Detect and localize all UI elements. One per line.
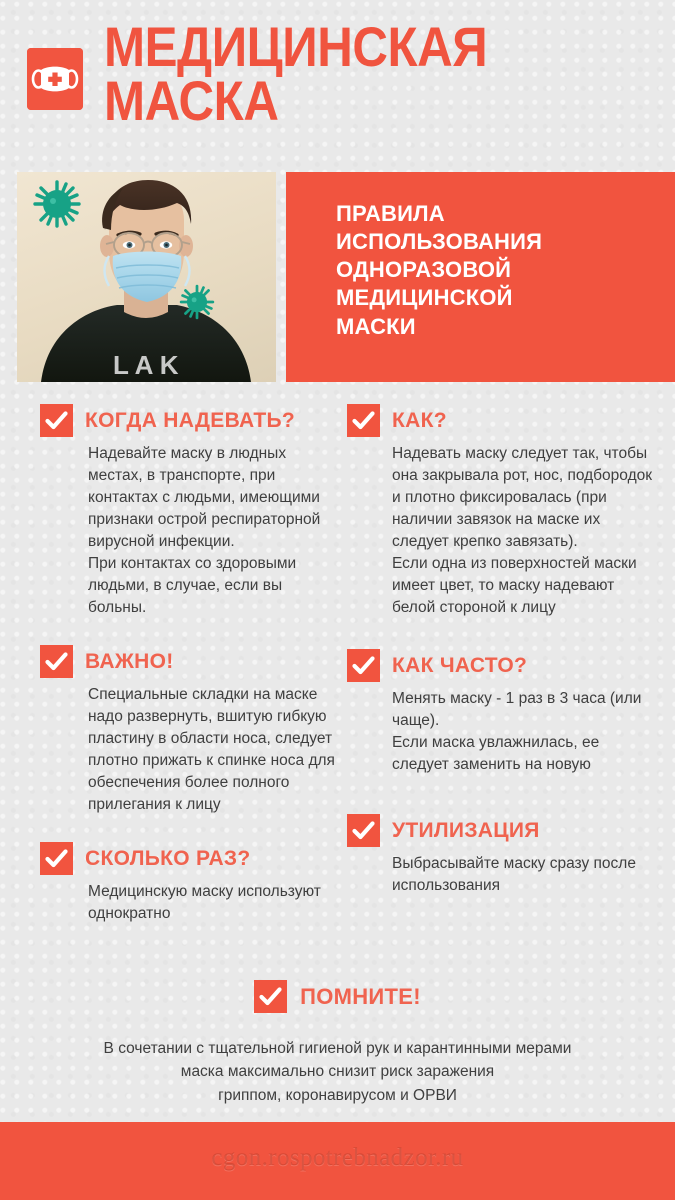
- checkmark-icon: [254, 980, 287, 1013]
- checkmark-icon: [40, 645, 73, 678]
- remember-body: В сочетании с тщательной гигиеной рук и …: [0, 1037, 675, 1107]
- headline-line-5: МАСКИ: [336, 313, 665, 341]
- checkmark-icon: [347, 814, 380, 847]
- section-header: КАК?: [347, 404, 659, 437]
- section-header: СКОЛЬКО РАЗ?: [40, 842, 336, 875]
- page-title: МЕДИЦИНСКАЯ МАСКА: [104, 20, 669, 128]
- section-title: КАК ЧАСТО?: [392, 649, 527, 682]
- title-line-2: МАСКА: [104, 74, 601, 128]
- headline-line-2: ИСПОЛЬЗОВАНИЯ: [336, 228, 665, 256]
- section-body: Надевать маску следует так, чтобы она за…: [392, 443, 659, 619]
- section-body: Медицинскую маску используют однократно: [88, 881, 336, 925]
- section-how-often: КАК ЧАСТО? Менять маску - 1 раз в 3 часа…: [347, 649, 659, 776]
- section-body: Менять маску - 1 раз в 3 часа (или чаще)…: [392, 688, 659, 776]
- section-header: ВАЖНО!: [40, 645, 336, 678]
- rules-headline-text: ПРАВИЛА ИСПОЛЬЗОВАНИЯ ОДНОРАЗОВОЙ МЕДИЦИ…: [336, 200, 665, 341]
- right-column: КАК? Надевать маску следует так, чтобы о…: [347, 404, 659, 923]
- section-body: Надевайте маску в людных местах, в транс…: [88, 443, 336, 619]
- remember-header: ПОМНИТЕ!: [254, 980, 421, 1013]
- section-header: КАК ЧАСТО?: [347, 649, 659, 682]
- checkmark-icon: [40, 842, 73, 875]
- section-how-many-times: СКОЛЬКО РАЗ? Медицинскую маску использую…: [40, 842, 336, 925]
- left-column: КОГДА НАДЕВАТЬ? Надевайте маску в людных…: [40, 404, 336, 951]
- section-title: ВАЖНО!: [85, 645, 174, 678]
- section-header: КОГДА НАДЕВАТЬ?: [40, 404, 336, 437]
- section-when-to-wear: КОГДА НАДЕВАТЬ? Надевайте маску в людных…: [40, 404, 336, 619]
- rules-headline-block: ПРАВИЛА ИСПОЛЬЗОВАНИЯ ОДНОРАЗОВОЙ МЕДИЦИ…: [286, 172, 675, 382]
- section-title: КАК?: [392, 404, 447, 437]
- title-line-1: МЕДИЦИНСКАЯ: [104, 20, 601, 74]
- section-body: Специальные складки на маске надо развер…: [88, 684, 336, 816]
- remember-title: ПОМНИТЕ!: [300, 984, 421, 1010]
- masked-man-photo: L A K: [17, 172, 276, 382]
- medical-mask-icon: [27, 48, 83, 110]
- svg-text:L A K: L A K: [113, 350, 179, 380]
- poster-canvas: МЕДИЦИНСКАЯ МАСКА: [0, 0, 675, 1200]
- section-disposal: УТИЛИЗАЦИЯ Выбрасывайте маску сразу посл…: [347, 814, 659, 897]
- headline-line-4: МЕДИЦИНСКОЙ: [336, 284, 665, 312]
- section-header: УТИЛИЗАЦИЯ: [347, 814, 659, 847]
- section-body: Выбрасывайте маску сразу после использов…: [392, 853, 659, 897]
- checkmark-icon: [347, 404, 380, 437]
- footer-website-url[interactable]: cgon.rospotrebnadzor.ru: [0, 1144, 675, 1172]
- checkmark-icon: [40, 404, 73, 437]
- section-title: УТИЛИЗАЦИЯ: [392, 814, 540, 847]
- remember-section: ПОМНИТЕ! В сочетании с тщательной гигиен…: [0, 980, 675, 1107]
- section-title: КОГДА НАДЕВАТЬ?: [85, 404, 295, 437]
- poster-header: МЕДИЦИНСКАЯ МАСКА: [0, 0, 675, 155]
- section-how: КАК? Надевать маску следует так, чтобы о…: [347, 404, 659, 619]
- section-title: СКОЛЬКО РАЗ?: [85, 842, 251, 875]
- checkmark-icon: [347, 649, 380, 682]
- section-important: ВАЖНО! Специальные складки на маске надо…: [40, 645, 336, 816]
- headline-line-3: ОДНОРАЗОВОЙ: [336, 256, 665, 284]
- footer-bar: cgon.rospotrebnadzor.ru: [0, 1122, 675, 1200]
- headline-line-1: ПРАВИЛА: [336, 200, 665, 228]
